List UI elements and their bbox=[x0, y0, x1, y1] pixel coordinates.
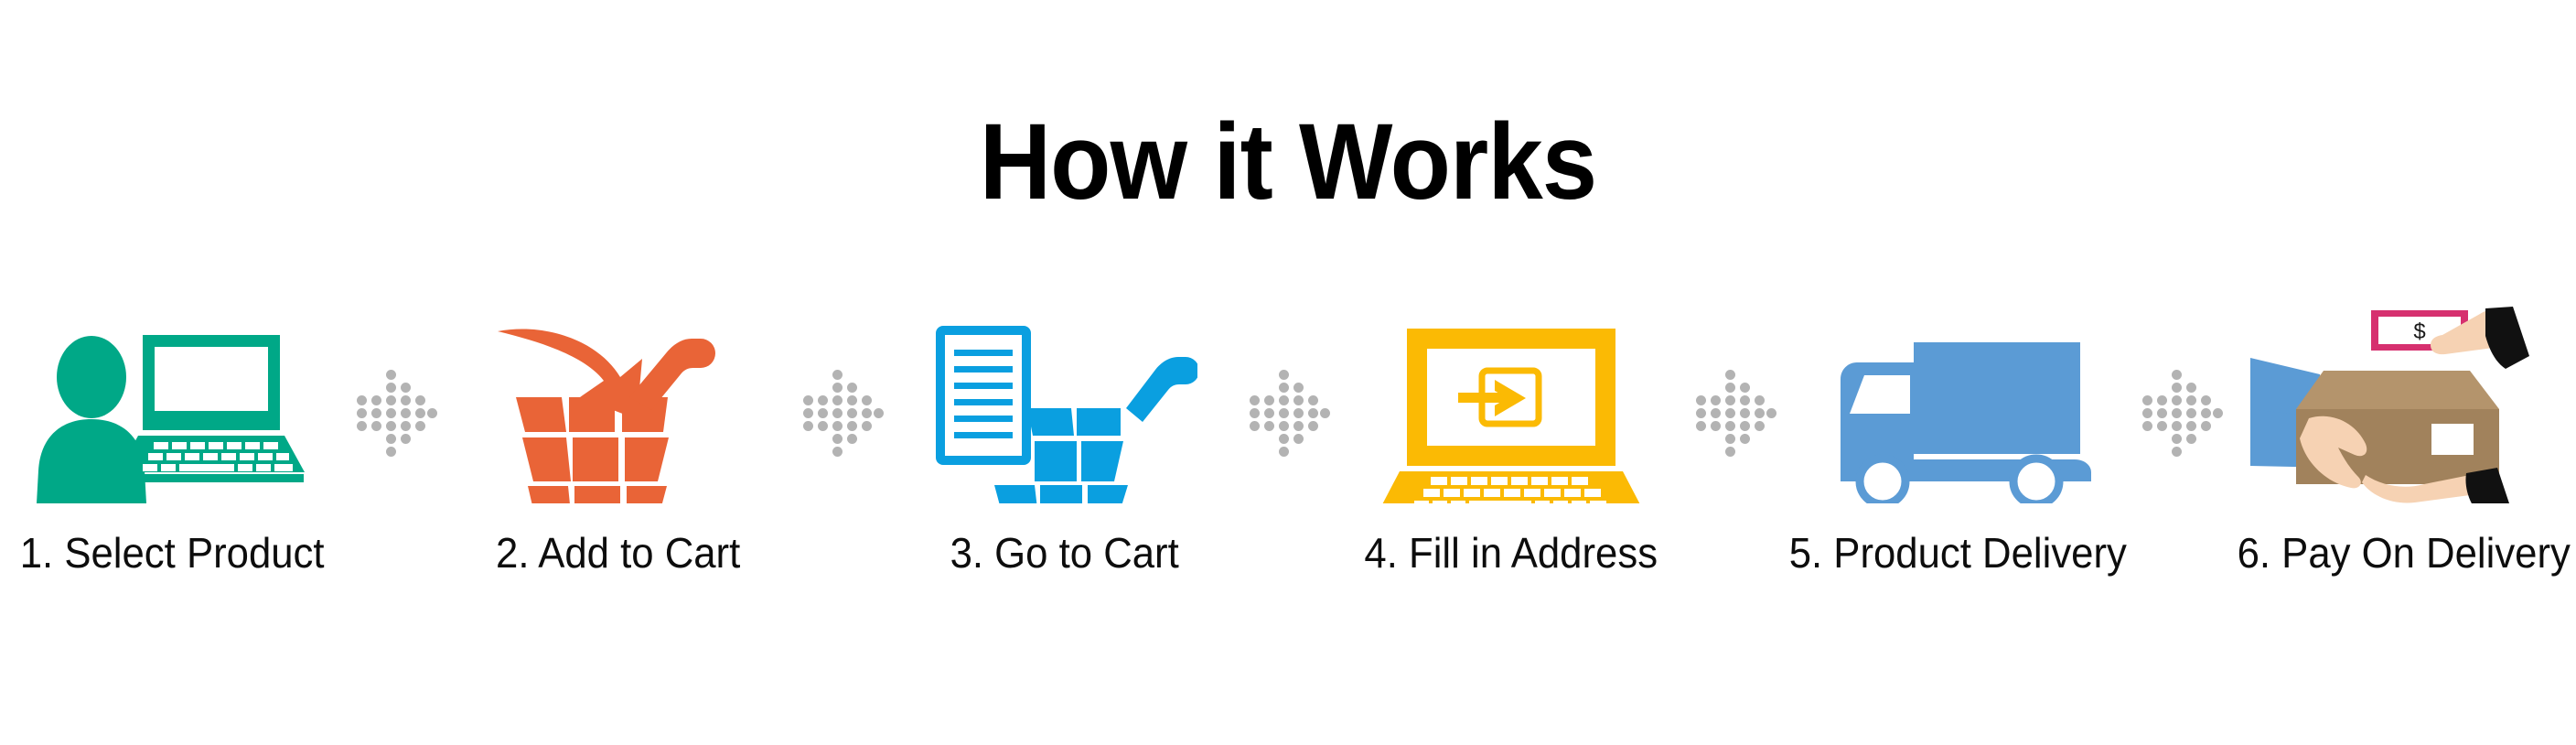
step-5-product-delivery[interactable]: 5. Product Delivery bbox=[1784, 302, 2131, 577]
step-3-icon-box bbox=[891, 302, 1239, 503]
step-3-label: 3. Go to Cart bbox=[950, 529, 1179, 577]
step-5-icon-box bbox=[1784, 302, 2131, 503]
document-with-shopping-cart-icon bbox=[932, 320, 1197, 503]
step-1-icon-box bbox=[0, 302, 346, 503]
step-1-select-product[interactable]: 1. Select Product bbox=[0, 302, 346, 577]
step-2-label: 2. Add to Cart bbox=[496, 529, 740, 577]
arrow-into-shopping-cart-icon bbox=[490, 320, 746, 503]
separator-5 bbox=[2131, 302, 2230, 503]
person-at-laptop-icon bbox=[35, 329, 309, 503]
hands-exchanging-box-and-cash-icon: $ bbox=[2249, 307, 2560, 503]
step-6-pay-on-delivery[interactable]: $ bbox=[2230, 302, 2576, 577]
step-1-label: 1. Select Product bbox=[20, 529, 325, 577]
step-4-label: 4. Fill in Address bbox=[1365, 529, 1658, 577]
step-4-fill-in-address[interactable]: 4. Fill in Address bbox=[1337, 302, 1685, 577]
separator-4 bbox=[1685, 302, 1784, 503]
how-it-works-steps: 1. Select Product bbox=[0, 302, 2576, 613]
dot-arrow-right-icon bbox=[1692, 370, 1776, 436]
page-title: How it Works bbox=[103, 108, 2474, 216]
money-symbol: $ bbox=[2413, 319, 2425, 344]
step-2-add-to-cart[interactable]: 2. Add to Cart bbox=[445, 302, 792, 577]
step-4-icon-box bbox=[1337, 302, 1685, 503]
separator-3 bbox=[1239, 302, 1337, 503]
dot-arrow-right-icon bbox=[2139, 370, 2223, 436]
dot-arrow-right-icon bbox=[1246, 370, 1330, 436]
step-2-icon-box bbox=[445, 302, 792, 503]
step-5-label: 5. Product Delivery bbox=[1788, 529, 2126, 577]
dot-arrow-right-icon bbox=[353, 370, 437, 436]
delivery-truck-icon bbox=[1811, 339, 2104, 503]
separator-2 bbox=[792, 302, 891, 503]
dot-arrow-right-icon bbox=[800, 370, 884, 436]
separator-1 bbox=[346, 302, 445, 503]
step-6-icon-box: $ bbox=[2230, 302, 2576, 503]
step-6-label: 6. Pay On Delivery bbox=[2238, 529, 2571, 577]
laptop-login-form-icon bbox=[1374, 325, 1648, 503]
step-3-go-to-cart[interactable]: 3. Go to Cart bbox=[891, 302, 1239, 577]
